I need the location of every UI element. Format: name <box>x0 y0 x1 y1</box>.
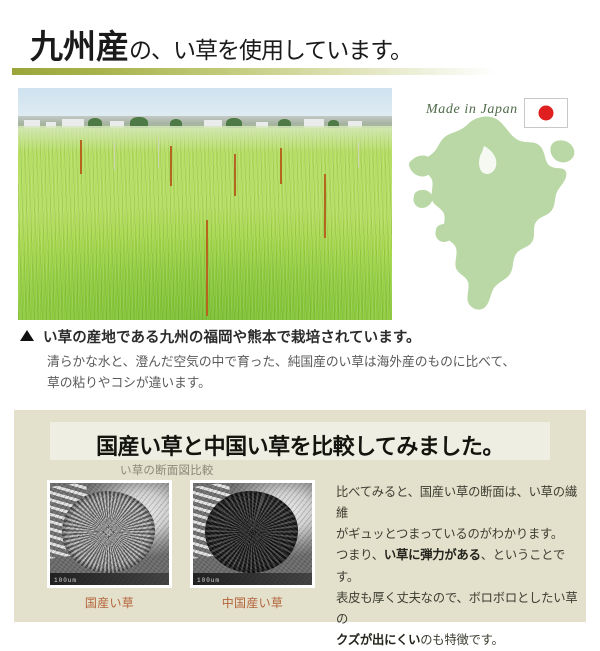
comparison-line-5-post: のも特徴です。 <box>420 633 503 647</box>
micro-grain <box>193 483 312 585</box>
micro-scale-bar: 100um <box>50 573 169 585</box>
photo-stake <box>280 148 282 184</box>
kyushu-map-icon <box>398 106 594 326</box>
photo-stake <box>234 154 236 196</box>
micro-scale-text: 100um <box>197 577 220 584</box>
photo-stake <box>80 140 82 174</box>
micro-scale-bar: 100um <box>193 573 312 585</box>
photo-stake <box>358 142 359 168</box>
page-title: 九州産の、い草を使用しています。 <box>30 20 412 68</box>
photo-caption: い草の産地である九州の福岡や熊本で栽培されています。 <box>20 326 580 347</box>
photo-stake <box>114 142 115 170</box>
caption-headline: い草の産地である九州の福岡や熊本で栽培されています。 <box>43 330 421 346</box>
micro-grain <box>50 483 169 585</box>
comparison-line-3-pre: つまり、 <box>336 548 384 562</box>
micro-scale-text: 100um <box>54 577 77 584</box>
cross-section-image-chinese: 100um <box>190 480 315 588</box>
comparison-line-5-bold: クズが出にくい <box>336 633 420 647</box>
comparison-line-5: クズが出にくいのも特徴です。 <box>336 630 586 651</box>
sample-label-chinese: 中国産い草 <box>190 594 315 611</box>
page-header: 九州産の、い草を使用しています。 <box>0 0 600 80</box>
comparison-line-3: つまり、い草に弾力がある、ということです。 <box>336 545 586 587</box>
igusa-field-photo <box>18 88 392 320</box>
comparison-panel: 国産い草と中国い草を比較してみました。 い草の断面図比較 100um 100um… <box>14 410 586 622</box>
comparison-heading-band: 国産い草と中国い草を比較してみました。 <box>50 422 550 460</box>
micro-photo: 100um <box>193 483 312 585</box>
photo-stake <box>170 146 172 186</box>
comparison-line-3-bold: い草に弾力がある <box>384 548 481 562</box>
triangle-marker-icon <box>20 330 34 341</box>
caption-body-line-2: 草の粘りやコシが違います。 <box>47 373 567 394</box>
made-in-japan-map: Made in Japan <box>398 96 594 326</box>
page-title-emphasis: 九州産 <box>30 30 129 66</box>
photo-stake <box>158 138 159 168</box>
comparison-line-2: がギュッとつまっているのがわかります。 <box>336 524 586 545</box>
photo-stake <box>206 220 208 316</box>
comparison-description: 比べてみると、国産い草の断面は、い草の繊維 がギュッとつまっているのがわかります… <box>336 482 586 651</box>
sample-label-domestic: 国産い草 <box>47 594 172 611</box>
page-title-rest: の、い草を使用しています。 <box>129 38 412 63</box>
cross-section-image-domestic: 100um <box>47 480 172 588</box>
photo-field-texture <box>18 128 392 320</box>
comparison-line-1: 比べてみると、国産い草の断面は、い草の繊維 <box>336 482 586 524</box>
caption-body-line-1: 清らかな水と、澄んだ空気の中で育った、純国産のい草は海外産のものに比べて、 <box>47 352 567 373</box>
photo-stake <box>324 174 326 238</box>
photo-haze <box>18 126 392 152</box>
comparison-heading: 国産い草と中国い草を比較してみました。 <box>50 429 550 461</box>
comparison-sub-label: い草の断面図比較 <box>120 462 214 478</box>
micro-photo: 100um <box>50 483 169 585</box>
caption-body: 清らかな水と、澄んだ空気の中で育った、純国産のい草は海外産のものに比べて、 草の… <box>47 352 567 393</box>
title-underline-rule <box>12 68 497 75</box>
comparison-line-4: 表皮も厚く丈夫なので、ボロボロとしたい草の <box>336 588 586 630</box>
